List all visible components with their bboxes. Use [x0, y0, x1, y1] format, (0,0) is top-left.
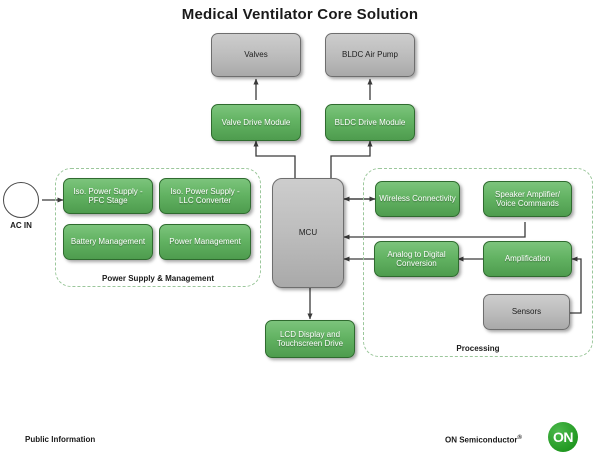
ac-in-label: AC IN	[0, 221, 45, 230]
wire-mcu-to-bldcdrive	[331, 141, 370, 178]
block-bldc-air-pump[interactable]: BLDC Air Pump	[325, 33, 415, 77]
block-valves[interactable]: Valves	[211, 33, 301, 77]
block-bldc-drive-module[interactable]: BLDC Drive Module	[325, 104, 415, 141]
diagram-canvas: Medical Ventilator Core Solution	[0, 0, 600, 469]
block-speaker-amplifier-voice-commands[interactable]: Speaker Amplifier/ Voice Commands	[483, 181, 572, 217]
group-processing-label: Processing	[364, 344, 592, 353]
block-sensors[interactable]: Sensors	[483, 294, 570, 330]
block-amplification[interactable]: Amplification	[483, 241, 572, 277]
block-battery-management[interactable]: Battery Management	[63, 224, 153, 260]
block-mcu[interactable]: MCU	[272, 178, 344, 288]
wire-mcu-to-valvedrive	[256, 141, 295, 178]
ac-source-symbol	[3, 182, 39, 218]
footer-brand-name: ON Semiconductor®	[445, 435, 522, 445]
group-power-supply-label: Power Supply & Management	[56, 274, 260, 283]
block-iso-power-supply-llc[interactable]: Iso. Power Supply - LLC Converter	[159, 178, 251, 214]
block-valve-drive-module[interactable]: Valve Drive Module	[211, 104, 301, 141]
block-iso-power-supply-pfc[interactable]: Iso. Power Supply - PFC Stage	[63, 178, 153, 214]
block-lcd-display-touchscreen-drive[interactable]: LCD Display and Touchscreen Drive	[265, 320, 355, 358]
footer-public-information: Public Information	[25, 435, 95, 444]
page-title: Medical Ventilator Core Solution	[0, 6, 600, 23]
block-wireless-connectivity[interactable]: Wireless Connectivity	[375, 181, 460, 217]
on-semiconductor-logo: ON	[548, 422, 578, 452]
block-analog-to-digital-conversion[interactable]: Analog to Digital Conversion	[374, 241, 459, 277]
registered-trademark-icon: ®	[517, 435, 521, 441]
block-power-management[interactable]: Power Management	[159, 224, 251, 260]
